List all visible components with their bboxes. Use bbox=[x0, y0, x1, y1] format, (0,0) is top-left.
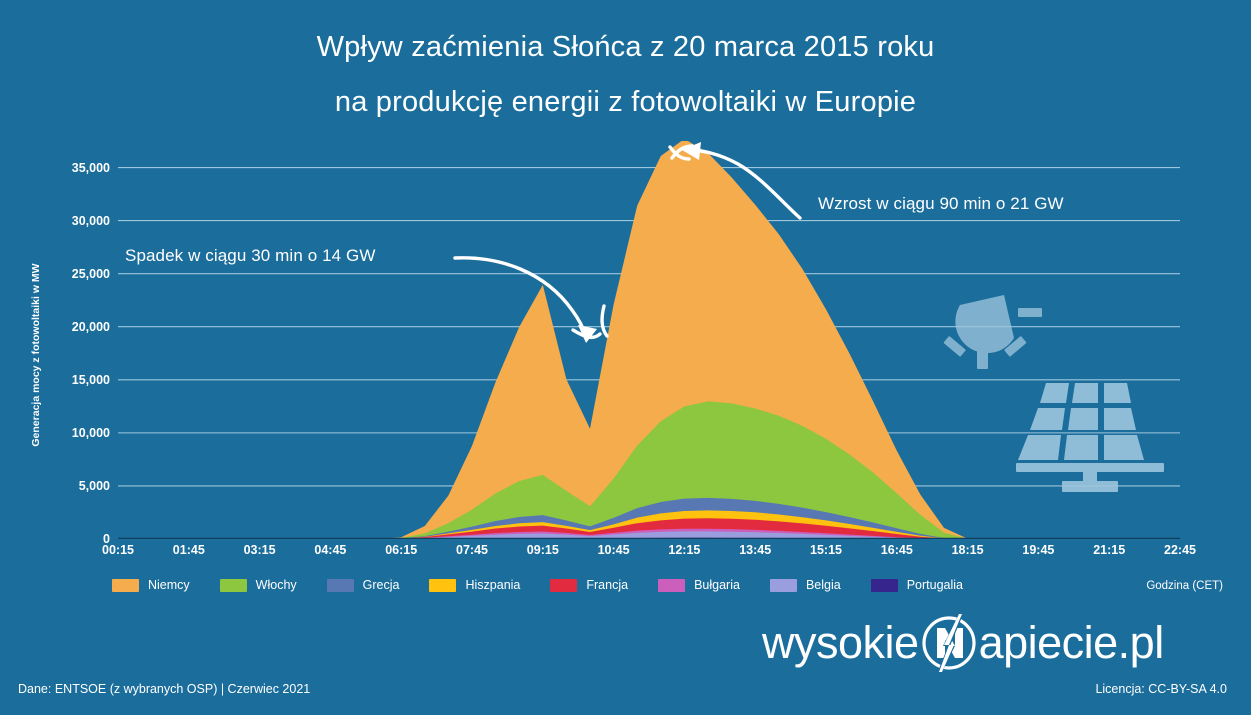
x-tick-label: 10:45 bbox=[584, 543, 644, 557]
legend-item-belgia[interactable]: Belgia bbox=[770, 578, 841, 592]
legend-swatch-icon bbox=[550, 579, 577, 592]
legend-item-francja[interactable]: Francja bbox=[550, 578, 628, 592]
x-tick-label: 04:45 bbox=[300, 543, 360, 557]
logo-lightning-n-icon bbox=[917, 612, 981, 674]
x-tick-label: 22:45 bbox=[1150, 543, 1210, 557]
legend-label: Belgia bbox=[806, 578, 841, 592]
legend-swatch-icon bbox=[220, 579, 247, 592]
brand-logo[interactable]: wysokie apiecie.pl bbox=[762, 612, 1164, 674]
legend-label: Francja bbox=[586, 578, 628, 592]
title-line-1: Wpływ zaćmienia Słońca z 20 marca 2015 r… bbox=[0, 20, 1251, 75]
y-tick-label: 5,000 bbox=[36, 479, 110, 493]
legend-swatch-icon bbox=[112, 579, 139, 592]
legend-swatch-icon bbox=[327, 579, 354, 592]
x-tick-label: 18:15 bbox=[938, 543, 998, 557]
legend-label: Grecja bbox=[363, 578, 400, 592]
x-tick-label: 09:15 bbox=[513, 543, 573, 557]
legend-item-włochy[interactable]: Włochy bbox=[220, 578, 297, 592]
legend-label: Niemcy bbox=[148, 578, 190, 592]
infographic-canvas: Wpływ zaćmienia Słońca z 20 marca 2015 r… bbox=[0, 0, 1251, 715]
annotation-rise-label: Wzrost w ciągu 90 min o 21 GW bbox=[818, 194, 1064, 214]
x-tick-label: 00:15 bbox=[88, 543, 148, 557]
legend-label: Hiszpania bbox=[465, 578, 520, 592]
y-axis-title: Generacja mocy z fotowoltaiki w MW bbox=[30, 0, 50, 230]
x-tick-label: 01:45 bbox=[159, 543, 219, 557]
legend-label: Portugalia bbox=[907, 578, 963, 592]
legend-swatch-icon bbox=[871, 579, 898, 592]
legend-swatch-icon bbox=[658, 579, 685, 592]
title-line-2: na produkcję energii z fotowoltaiki w Eu… bbox=[0, 75, 1251, 130]
annotation-drop-label: Spadek w ciągu 30 min o 14 GW bbox=[125, 246, 375, 266]
y-tick-label: 30,000 bbox=[36, 214, 110, 228]
x-tick-label: 19:45 bbox=[1008, 543, 1068, 557]
footer-source: Dane: ENTSOE (z wybranych OSP) | Czerwie… bbox=[18, 682, 310, 696]
legend-item-bułgaria[interactable]: Bułgaria bbox=[658, 578, 740, 592]
y-tick-label: 25,000 bbox=[36, 267, 110, 281]
logo-text-part1: wysokie bbox=[762, 620, 919, 666]
x-tick-label: 13:45 bbox=[725, 543, 785, 557]
legend-item-portugalia[interactable]: Portugalia bbox=[871, 578, 963, 592]
legend-label: Bułgaria bbox=[694, 578, 740, 592]
x-tick-label: 06:15 bbox=[371, 543, 431, 557]
x-tick-label: 16:45 bbox=[867, 543, 927, 557]
legend-item-hiszpania[interactable]: Hiszpania bbox=[429, 578, 520, 592]
page-title: Wpływ zaćmienia Słońca z 20 marca 2015 r… bbox=[0, 20, 1251, 130]
x-axis-title: Godzina (CET) bbox=[1146, 580, 1223, 592]
y-tick-label: 35,000 bbox=[36, 161, 110, 175]
legend-swatch-icon bbox=[429, 579, 456, 592]
chart-legend: NiemcyWłochyGrecjaHiszpaniaFrancjaBułgar… bbox=[112, 578, 993, 592]
legend-item-niemcy[interactable]: Niemcy bbox=[112, 578, 190, 592]
x-tick-label: 15:15 bbox=[796, 543, 856, 557]
y-tick-label: 20,000 bbox=[36, 320, 110, 334]
x-tick-label: 03:15 bbox=[230, 543, 290, 557]
x-tick-label: 07:45 bbox=[442, 543, 502, 557]
footer-license: Licencja: CC-BY-SA 4.0 bbox=[1095, 682, 1227, 696]
x-tick-label: 21:15 bbox=[1079, 543, 1139, 557]
y-tick-label: 15,000 bbox=[36, 373, 110, 387]
y-tick-label: 10,000 bbox=[36, 426, 110, 440]
legend-swatch-icon bbox=[770, 579, 797, 592]
x-tick-label: 12:15 bbox=[654, 543, 714, 557]
legend-item-grecja[interactable]: Grecja bbox=[327, 578, 400, 592]
logo-text-part2: apiecie.pl bbox=[979, 620, 1164, 666]
legend-label: Włochy bbox=[256, 578, 297, 592]
